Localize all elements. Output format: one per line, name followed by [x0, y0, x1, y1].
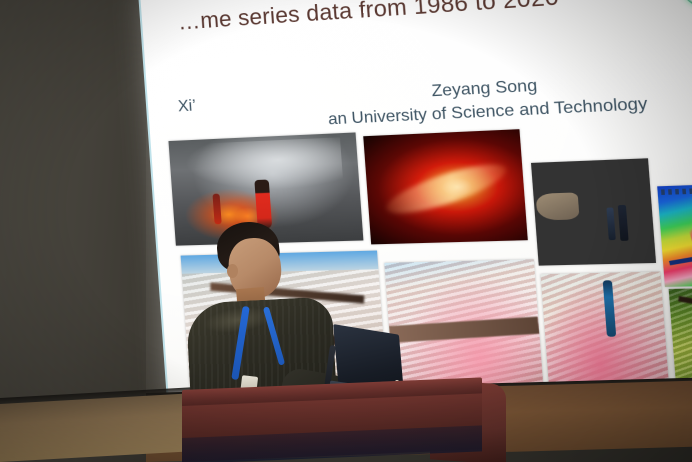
heatmap-axis-horizontal	[669, 246, 692, 264]
heatmap-hotspot	[687, 213, 692, 254]
grid-cell-thermal-heatmap	[657, 183, 692, 287]
grid-cell-molten-coal	[363, 129, 528, 244]
figure-small	[212, 194, 221, 225]
slide-title: …ersistent coal fire using …me series da…	[169, 0, 692, 38]
slide-author: Zeyang Song	[431, 77, 538, 101]
rock-ledge	[389, 317, 540, 343]
fallen-branch	[678, 296, 692, 317]
lectern	[182, 380, 482, 462]
person-right	[618, 205, 629, 241]
person-left	[607, 208, 616, 241]
heatmap-header-text	[661, 188, 692, 196]
screenshot-root: …ersistent coal fire using …me series da…	[0, 0, 692, 462]
slide-title-line-2: …me series data from 1986 to 2020	[177, 0, 692, 38]
lava-streak	[381, 154, 512, 221]
field-person	[603, 280, 617, 337]
slide-affiliation-prefix: Xi’	[177, 97, 196, 116]
presenter-ear	[227, 264, 238, 278]
rock-outcrop	[536, 192, 580, 220]
grid-cell-steam-plume	[531, 158, 656, 265]
